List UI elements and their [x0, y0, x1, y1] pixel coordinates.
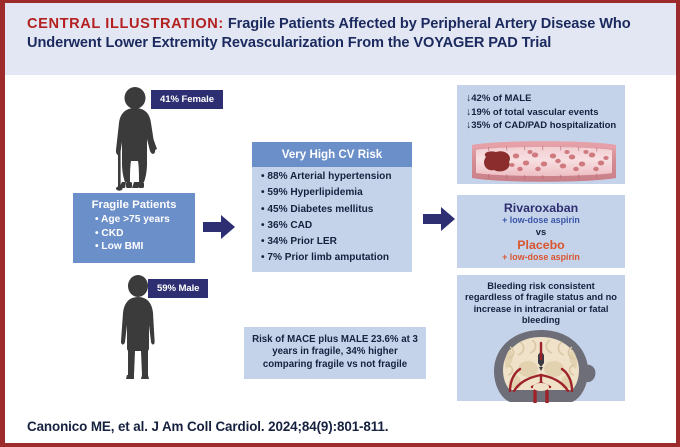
head-brain-cross-section-illustration-icon [480, 329, 602, 403]
vessel-stat-line: ↓42% of MALE [466, 92, 625, 106]
cv-risk-item: • 59% Hyperlipidemia [252, 183, 412, 199]
fragile-item: • Low BMI [81, 240, 187, 254]
male-percentage-badge: 59% Male [148, 279, 208, 298]
bleeding-risk-text: Bleeding risk consistent regardless of f… [457, 281, 625, 327]
arrow-shaft [423, 214, 443, 224]
cv-risk-item: • 45% Diabetes mellitus [252, 199, 412, 215]
vessel-stat-text: 35% of CAD/PAD hospitalization [471, 120, 616, 131]
header-band: CENTRAL ILLUSTRATION: Fragile Patients A… [5, 3, 676, 75]
cv-risk-item: • 34% Prior LER [252, 232, 412, 248]
arrow-shaft [203, 222, 223, 232]
fragile-item: • CKD [81, 227, 187, 241]
fragile-item: • Age >75 years [81, 213, 187, 227]
central-illustration-figure: CENTRAL ILLUSTRATION: Fragile Patients A… [0, 0, 680, 447]
treatment-name: Rivaroxaban [457, 201, 625, 215]
cv-risk-item: • 88% Arterial hypertension [252, 167, 412, 183]
treatment-comparison-panel: Rivaroxaban + low-dose aspirin vs Placeb… [457, 195, 625, 268]
vessel-stat-line: ↓35% of CAD/PAD hospitalization [466, 119, 625, 133]
cv-risk-panel: Very High CV Risk • 88% Arterial hyperte… [252, 142, 412, 272]
arrow-cvrisk-to-outcomes [423, 207, 457, 231]
fragile-patients-box: Fragile Patients • Age >75 years • CKD •… [73, 193, 195, 263]
mace-risk-box: Risk of MACE plus MALE 23.6% at 3 years … [244, 327, 426, 379]
central-illustration-label: CENTRAL ILLUSTRATION: [27, 16, 224, 32]
bleeding-risk-panel: Bleeding risk consistent regardless of f… [457, 275, 625, 401]
vessel-stat-text: 19% of total vascular events [471, 107, 598, 118]
vessel-stat-text: 42% of MALE [471, 93, 531, 104]
vessel-stat-line: ↓19% of total vascular events [466, 106, 625, 120]
female-percentage-badge: 41% Female [151, 90, 223, 109]
treatment-subtext: + low-dose aspirin [457, 215, 625, 226]
page-title: CENTRAL ILLUSTRATION: Fragile Patients A… [27, 15, 656, 53]
cv-risk-title: Very High CV Risk [252, 142, 412, 167]
fragile-patients-title: Fragile Patients [81, 199, 187, 211]
cv-risk-item: • 7% Prior limb amputation [252, 248, 412, 264]
arrow-head [441, 207, 455, 231]
citation-text: Canonico ME, et al. J Am Coll Cardiol. 2… [27, 419, 388, 434]
arrow-head [221, 215, 235, 239]
blood-vessel-with-thrombus-illustration-icon [468, 136, 620, 186]
control-subtext: + low-dose aspirin [457, 252, 625, 263]
vascular-outcomes-panel: ↓42% of MALE ↓19% of total vascular even… [457, 85, 625, 184]
control-name: Placebo [457, 238, 625, 252]
arrow-fragile-to-cvrisk [203, 215, 237, 239]
cv-risk-item: • 36% CAD [252, 216, 412, 232]
versus-label: vs [457, 226, 625, 238]
